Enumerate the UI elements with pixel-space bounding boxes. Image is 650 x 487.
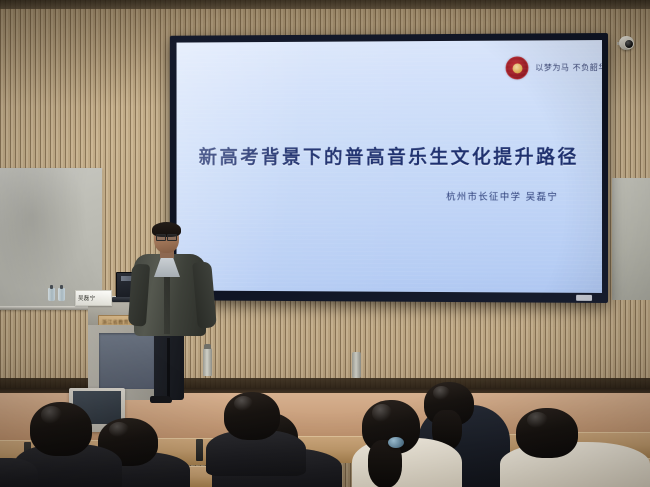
presenter-legs <box>154 332 184 400</box>
left-panel-ledge <box>0 306 102 310</box>
name-card-text: 吴磊宁 <box>78 294 110 302</box>
hair-clip <box>388 437 404 448</box>
slide-logo: 以梦为马 不负韶华 <box>506 56 602 79</box>
audience-head <box>516 408 578 458</box>
school-seal-icon <box>506 56 529 79</box>
ceiling-band <box>0 0 650 9</box>
audience-hair <box>516 408 578 458</box>
slide-title: 新高考背景下的普高音乐生文化提升路径 <box>177 142 602 169</box>
projection-screen: 以梦为马 不负韶华 新高考背景下的普高音乐生文化提升路径 杭州市长征中学 吴磊宁 <box>170 33 608 303</box>
lecture-hall-photo: 以梦为马 不负韶华 新高考背景下的普高音乐生文化提升路径 杭州市长征中学 吴磊宁… <box>0 0 650 487</box>
wall-camera-icon <box>617 36 635 51</box>
presenter-figure <box>128 224 212 400</box>
audience-hair <box>30 402 92 456</box>
slide-subtitle: 杭州市长征中学 吴磊宁 <box>446 189 558 203</box>
audience-hair <box>224 392 280 440</box>
logo-wordmark: 以梦为马 不负韶华 <box>535 62 602 73</box>
right-wall-panel <box>612 178 650 300</box>
thermos-bottle <box>352 352 361 378</box>
audience-head <box>224 392 280 440</box>
bench-divider <box>196 439 203 461</box>
slide-surface: 以梦为马 不负韶华 新高考背景下的普高音乐生文化提升路径 杭州市长征中学 吴磊宁 <box>177 40 602 293</box>
water-bottle <box>58 288 65 301</box>
water-bottle <box>48 288 55 301</box>
name-card: 吴磊宁 <box>75 290 112 306</box>
presenter-shoe <box>150 396 172 403</box>
presenter-glasses <box>156 234 177 239</box>
screen-control-strip <box>576 295 592 301</box>
audience-head <box>30 402 92 456</box>
camera-lens <box>624 39 634 49</box>
